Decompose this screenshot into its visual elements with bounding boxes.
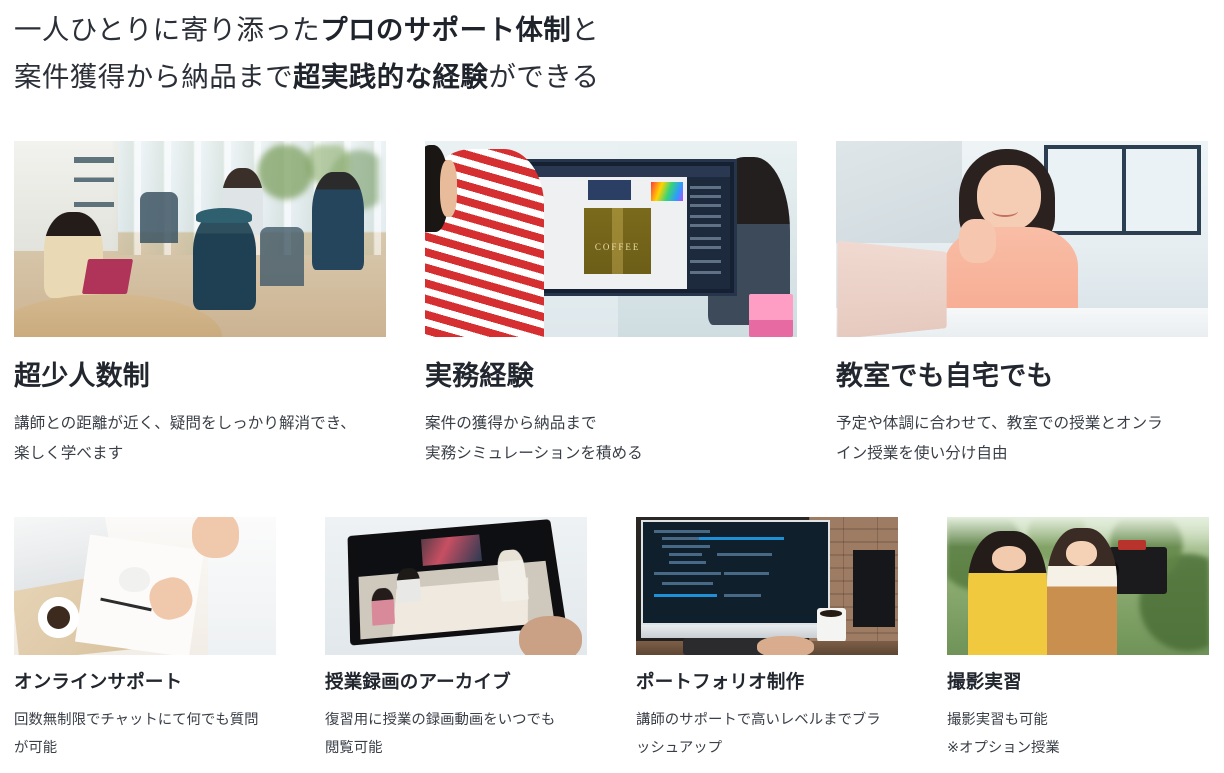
heading-line-1-prefix: 一人ひとりに寄り添った xyxy=(14,14,320,45)
description-line: が可能 xyxy=(14,734,276,762)
feature-card-description: 予定や体調に合わせて、教室での授業とオンラ イン授業を使い分け自由 xyxy=(836,409,1208,469)
description-line: ッシュアップ xyxy=(636,734,898,762)
heading-line-1-suffix: と xyxy=(571,14,599,45)
extra-card-description: 回数無制限でチャットにて何でも質問 が可能 xyxy=(14,706,276,762)
extra-card-title: 授業録画のアーカイブ xyxy=(325,671,587,693)
extra-cards-row: オンラインサポート 回数無制限でチャットにて何でも質問 が可能 xyxy=(14,517,1210,762)
description-line: 撮影実習も可能 xyxy=(947,706,1209,734)
feature-card[interactable]: 超少人数制 講師との距離が近く、疑問をしっかり解消でき、 楽しく学べます xyxy=(14,141,386,469)
extra-card[interactable]: 授業録画のアーカイブ 復習用に授業の録画動画をいつでも 閲覧可能 xyxy=(325,517,587,762)
feature-card-description: 講師との距離が近く、疑問をしっかり解消でき、 楽しく学べます xyxy=(14,409,386,469)
extra-card[interactable]: オンラインサポート 回数無制限でチャットにて何でも質問 が可能 xyxy=(14,517,276,762)
extra-card[interactable]: 撮影実習 撮影実習も可能 ※オプション授業 xyxy=(947,517,1209,762)
description-line: 回数無制限でチャットにて何でも質問 xyxy=(14,706,276,734)
description-line: 講師との距離が近く、疑問をしっかり解消でき、 xyxy=(14,409,386,439)
extra-card-title: オンラインサポート xyxy=(14,671,276,693)
description-line: 楽しく学べます xyxy=(14,439,386,469)
heading-line-2: 案件獲得から納品まで超実践的な経験ができる xyxy=(14,53,1210,100)
designer-at-monitor-photo: COFFEE xyxy=(425,141,797,337)
laptop-class-recording-photo xyxy=(325,517,587,655)
description-line: 実務シミュレーションを積める xyxy=(425,439,797,469)
extra-card-title: ポートフォリオ制作 xyxy=(636,671,898,693)
extra-card-description: 復習用に授業の録画動画をいつでも 閲覧可能 xyxy=(325,706,587,762)
feature-card-description: 案件の獲得から納品まで 実務シミュレーションを積める xyxy=(425,409,797,469)
description-line: 閲覧可能 xyxy=(325,734,587,762)
heading-line-2-suffix: ができる xyxy=(488,61,599,92)
woman-with-laptop-at-home-photo xyxy=(836,141,1208,337)
extra-card-description: 講師のサポートで高いレベルまでブラ ッシュアップ xyxy=(636,706,898,762)
feature-card-title: 実務経験 xyxy=(425,360,797,392)
section-heading: 一人ひとりに寄り添ったプロのサポート体制と 案件獲得から納品まで超実践的な経験が… xyxy=(14,6,1210,100)
heading-line-2-prefix: 案件獲得から納品まで xyxy=(14,61,293,92)
description-line: イン授業を使い分け自由 xyxy=(836,439,1208,469)
description-line: 予定や体調に合わせて、教室での授業とオンラ xyxy=(836,409,1208,439)
heading-line-1-emphasis: プロのサポート体制 xyxy=(320,14,571,45)
description-line: 案件の獲得から納品まで xyxy=(425,409,797,439)
extra-card[interactable]: ポートフォリオ制作 講師のサポートで高いレベルまでブラ ッシュアップ xyxy=(636,517,898,762)
cafe-coworking-photo xyxy=(14,141,386,337)
description-line: 講師のサポートで高いレベルまでブラ xyxy=(636,706,898,734)
feature-card[interactable]: 教室でも自宅でも 予定や体調に合わせて、教室での授業とオンラ イン授業を使い分け… xyxy=(836,141,1208,469)
desk-overhead-coffee-photo xyxy=(14,517,276,655)
feature-cards-row: 超少人数制 講師との距離が近く、疑問をしっかり解消でき、 楽しく学べます xyxy=(14,141,1210,469)
description-line: 復習用に授業の録画動画をいつでも xyxy=(325,706,587,734)
extra-card-title: 撮影実習 xyxy=(947,671,1209,693)
outdoor-video-shoot-photo xyxy=(947,517,1209,655)
extra-card-description: 撮影実習も可能 ※オプション授業 xyxy=(947,706,1209,762)
feature-card-title: 超少人数制 xyxy=(14,360,386,392)
feature-section: 一人ひとりに寄り添ったプロのサポート体制と 案件獲得から納品まで超実践的な経験が… xyxy=(0,0,1224,773)
description-line: ※オプション授業 xyxy=(947,734,1209,762)
feature-card-title: 教室でも自宅でも xyxy=(836,360,1208,392)
coffee-package-label: COFFEE xyxy=(584,242,651,252)
imac-code-editor-photo xyxy=(636,517,898,655)
feature-card[interactable]: COFFEE 実務経験 案件の獲得から xyxy=(425,141,797,469)
heading-line-1: 一人ひとりに寄り添ったプロのサポート体制と xyxy=(14,6,1210,53)
heading-line-2-emphasis: 超実践的な経験 xyxy=(293,61,488,92)
